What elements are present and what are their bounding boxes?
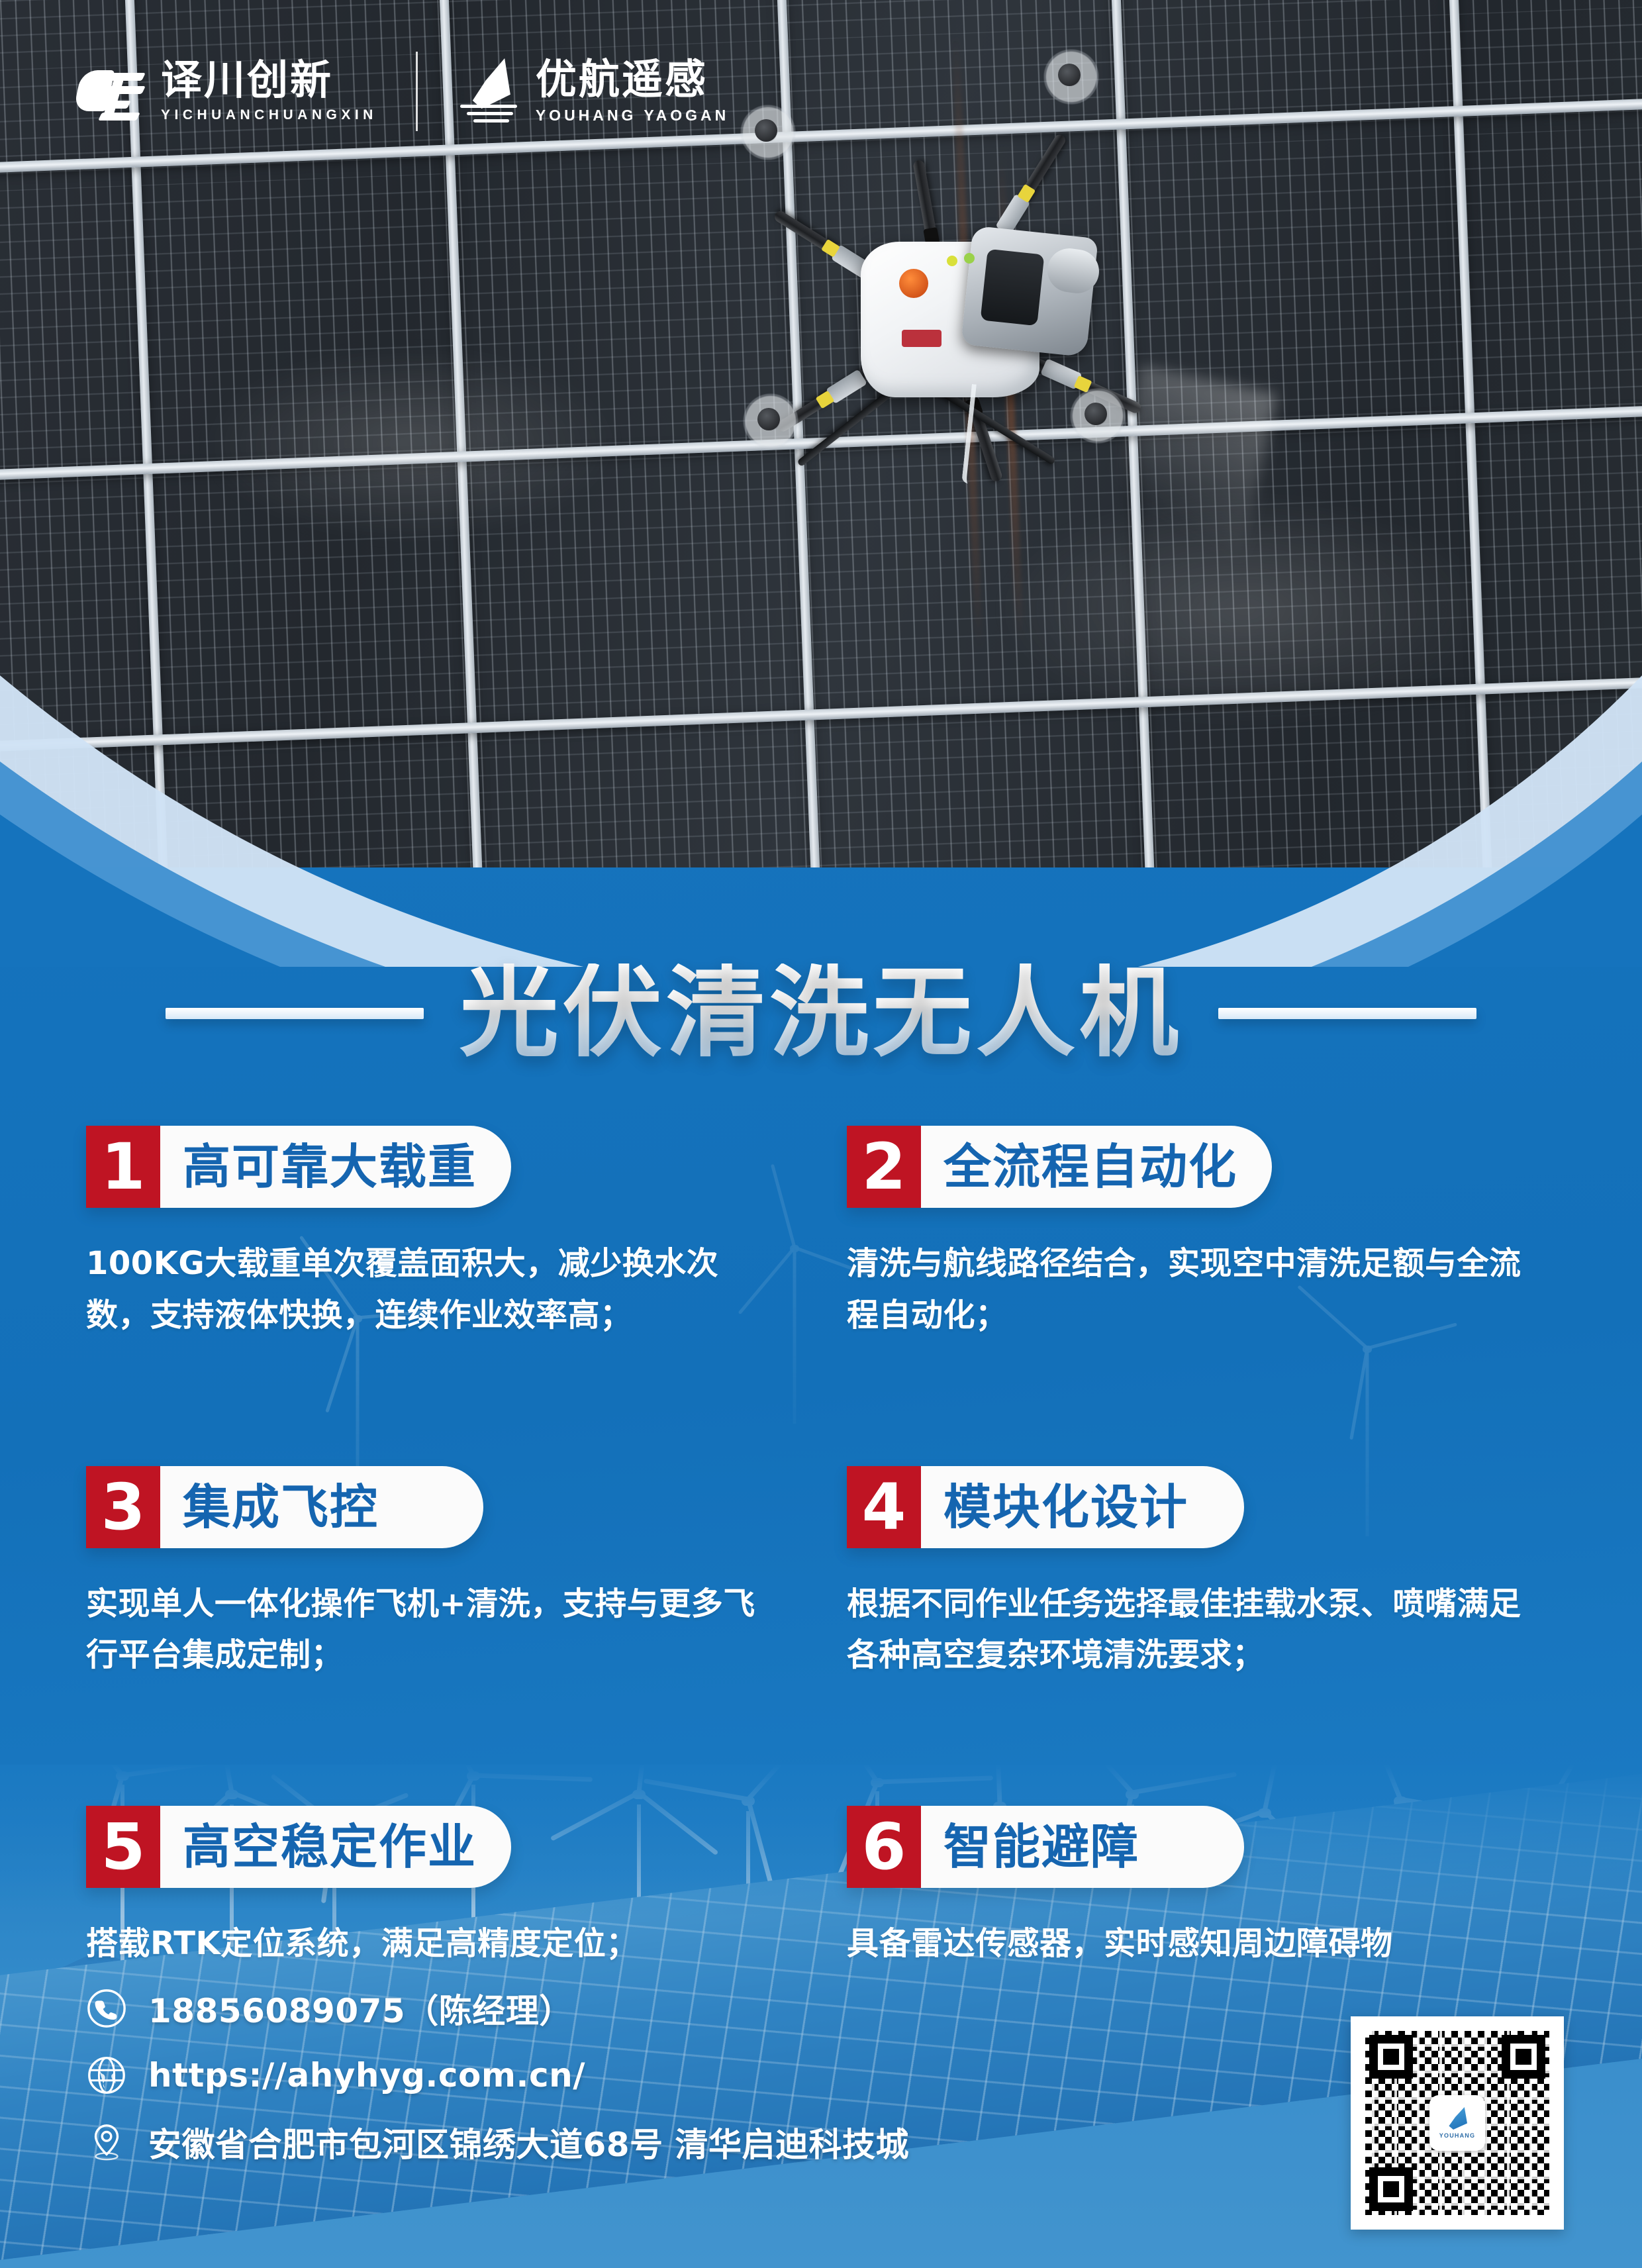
sail-mark-icon: [1447, 2107, 1467, 2130]
location-pin-icon: [86, 2122, 127, 2163]
feature-item-1: 1 高可靠大载重 100KG大载重单次覆盖面积大，减少换水次数，支持液体快换，连…: [86, 1126, 795, 1342]
qr-center-logo: YOUHANG: [1429, 2095, 1485, 2151]
panel-wet-sheen: [199, 344, 622, 543]
feature-item-6: 6 智能避障 具备雷达传感器，实时感知周边障碍物: [847, 1806, 1556, 1970]
feature-number-4: 4: [847, 1466, 921, 1548]
feature-pill-2[interactable]: 2 全流程自动化: [847, 1126, 1272, 1208]
feature-item-3: 3 集成飞控 实现单人一体化操作飞机+清洗，支持与更多飞行平台集成定制；: [86, 1466, 795, 1682]
feature-desc-4: 根据不同作业任务选择最佳挂载水泵、喷嘴满足各种高空复杂环境清洗要求；: [847, 1579, 1529, 1682]
feature-label-4: 模块化设计: [921, 1466, 1223, 1548]
qr-code-icon[interactable]: YOUHANG: [1351, 2016, 1564, 2230]
phone-icon: [86, 1988, 127, 2029]
sail-mark-icon: [456, 57, 525, 126]
drone-rotor-hub: [1058, 64, 1081, 86]
drone-pod-window: [981, 249, 1045, 326]
drone-rotor-hub: [1085, 403, 1107, 425]
feature-grid: 1 高可靠大载重 100KG大载重单次覆盖面积大，减少换水次数，支持液体快换，连…: [0, 1126, 1642, 1970]
contact-website-row[interactable]: https://ahyhyg.com.cn/: [86, 2055, 909, 2096]
poster-title-row: 光伏清洗无人机: [0, 963, 1642, 1063]
logo-yichuang: 译川创新 YICHUANCHUANGXIN: [76, 60, 377, 123]
hero-photo: 译川创新 YICHUANCHUANGXIN 优航遥感 YOUHANG YAOG: [0, 0, 1642, 881]
contact-phone-text: 18856089075（陈经理）: [148, 1985, 573, 2032]
drone-illustration: [748, 119, 1159, 490]
logo-youhang-cn: 优航遥感: [536, 59, 729, 100]
qr-logo-label: YOUHANG: [1439, 2132, 1475, 2139]
logo-yichuang-en: YICHUANCHUANGXIN: [161, 107, 377, 123]
qr-matrix: YOUHANG: [1365, 2031, 1549, 2215]
feature-label-2: 全流程自动化: [921, 1126, 1272, 1208]
contact-website-text: https://ahyhyg.com.cn/: [148, 2056, 585, 2095]
feature-label-3: 集成飞控: [160, 1466, 413, 1548]
contact-address-row[interactable]: 安徽省合肥市包河区锦绣大道68号 清华启迪科技城: [86, 2118, 909, 2166]
globe-icon: [86, 2055, 127, 2096]
logo-youhang-en: YOUHANG YAOGAN: [536, 107, 729, 124]
drone-fill-cap: [899, 269, 928, 298]
qr-finder: [1502, 2035, 1545, 2079]
logo-divider: [416, 52, 418, 131]
feature-desc-2: 清洗与航线路径结合，实现空中清洗足额与全流程自动化；: [847, 1238, 1529, 1342]
contact-phone-row[interactable]: 18856089075（陈经理）: [86, 1985, 909, 2032]
brand-logos: 译川创新 YICHUANCHUANGXIN 优航遥感 YOUHANG YAOG: [76, 52, 729, 131]
feature-label-6: 智能避障: [921, 1806, 1174, 1888]
feature-desc-6: 具备雷达传感器，实时感知周边障碍物: [847, 1918, 1529, 1970]
drone-decal: [902, 330, 942, 347]
drone-rotor-hub: [757, 408, 780, 430]
feature-pill-3[interactable]: 3 集成飞控: [86, 1466, 483, 1548]
feature-number-6: 6: [847, 1806, 921, 1888]
feature-desc-3: 实现单人一体化操作飞机+清洗，支持与更多飞行平台集成定制；: [86, 1579, 768, 1682]
feature-label-1: 高可靠大载重: [160, 1126, 511, 1208]
logo-yichuang-cn: 译川创新: [161, 60, 377, 101]
title-bar-left: [166, 1008, 424, 1019]
drone-rotor-hub: [755, 119, 777, 142]
qr-finder: [1369, 2167, 1413, 2211]
contact-address-text: 安徽省合肥市包河区锦绣大道68号 清华启迪科技城: [148, 2118, 909, 2166]
drone-hose: [961, 384, 979, 483]
feature-number-2: 2: [847, 1126, 921, 1208]
feature-item-4: 4 模块化设计 根据不同作业任务选择最佳挂载水泵、喷嘴满足各种高空复杂环境清洗要…: [847, 1466, 1556, 1682]
poster-root: 译川创新 YICHUANCHUANGXIN 优航遥感 YOUHANG YAOG: [0, 0, 1642, 2268]
yichuan-mark-icon: [76, 60, 150, 123]
feature-pill-6[interactable]: 6 智能避障: [847, 1806, 1244, 1888]
feature-pill-1[interactable]: 1 高可靠大载重: [86, 1126, 511, 1208]
logo-youhang: 优航遥感 YOUHANG YAOGAN: [456, 57, 729, 126]
page-title: 光伏清洗无人机: [453, 963, 1189, 1063]
feature-number-3: 3: [86, 1466, 160, 1548]
qr-finder: [1369, 2035, 1413, 2079]
feature-number-5: 5: [86, 1806, 160, 1888]
feature-label-5: 高空稳定作业: [160, 1806, 511, 1888]
footer-contacts: 18856089075（陈经理） https://ahyhyg.com.cn/: [86, 1985, 909, 2189]
feature-pill-4[interactable]: 4 模块化设计: [847, 1466, 1244, 1548]
drone-indicator: [964, 253, 975, 264]
drone-indicator: [947, 256, 957, 266]
feature-number-1: 1: [86, 1126, 160, 1208]
feature-item-2: 2 全流程自动化 清洗与航线路径结合，实现空中清洗足额与全流程自动化；: [847, 1126, 1556, 1342]
feature-desc-5: 搭载RTK定位系统，满足高精度定位；: [86, 1918, 768, 1970]
title-bar-right: [1218, 1008, 1476, 1019]
feature-pill-5[interactable]: 5 高空稳定作业: [86, 1806, 511, 1888]
feature-desc-1: 100KG大载重单次覆盖面积大，减少换水次数，支持液体快换，连续作业效率高；: [86, 1238, 768, 1342]
feature-item-5: 5 高空稳定作业 搭载RTK定位系统，满足高精度定位；: [86, 1806, 795, 1970]
